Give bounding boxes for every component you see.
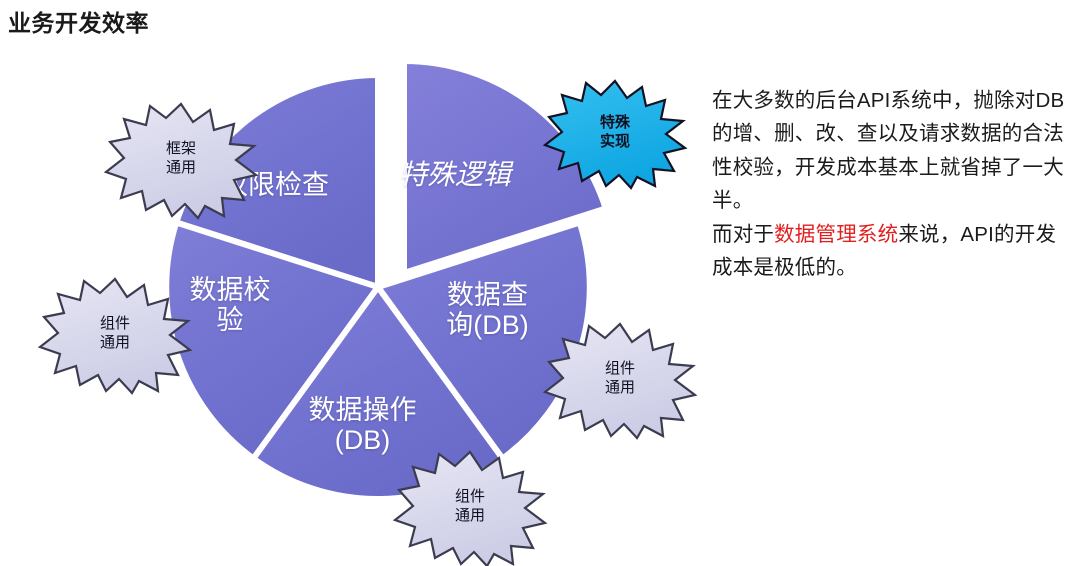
callout-special-implementation[interactable]: 特殊 实现 bbox=[545, 78, 685, 188]
page-title: 业务开发效率 bbox=[8, 4, 149, 38]
description-panel: 在大多数的后台API系统中，抛除对DB的增、删、改、查以及请求数据的合法性校验，… bbox=[712, 84, 1072, 284]
description-paragraph-2-prefix: 而对于 bbox=[712, 223, 774, 246]
starburst-shape-icon bbox=[545, 78, 685, 188]
description-paragraph-2: 而对于数据管理系统来说，API的开发成本是极低的。 bbox=[712, 218, 1072, 285]
starburst-shape-icon bbox=[545, 320, 695, 438]
callout-component-common-left[interactable]: 组件 通用 bbox=[40, 275, 190, 393]
callout-component-common-bottom[interactable]: 组件 通用 bbox=[395, 448, 545, 566]
description-paragraph-1: 在大多数的后台API系统中，抛除对DB的增、删、改、查以及请求数据的合法性校验，… bbox=[712, 84, 1072, 218]
starburst-shape-icon bbox=[395, 448, 545, 566]
starburst-shape-icon bbox=[40, 275, 190, 393]
pie-chart-figure: 权限检查 数据校 验 数据操作 (DB) 数据查 询(DB) 特殊逻辑 框架 通… bbox=[20, 40, 700, 553]
starburst-shape-icon bbox=[106, 100, 256, 218]
description-highlight-term: 数据管理系统 bbox=[774, 223, 898, 246]
callout-framework-common[interactable]: 框架 通用 bbox=[106, 100, 256, 218]
callout-component-common-right[interactable]: 组件 通用 bbox=[545, 320, 695, 438]
